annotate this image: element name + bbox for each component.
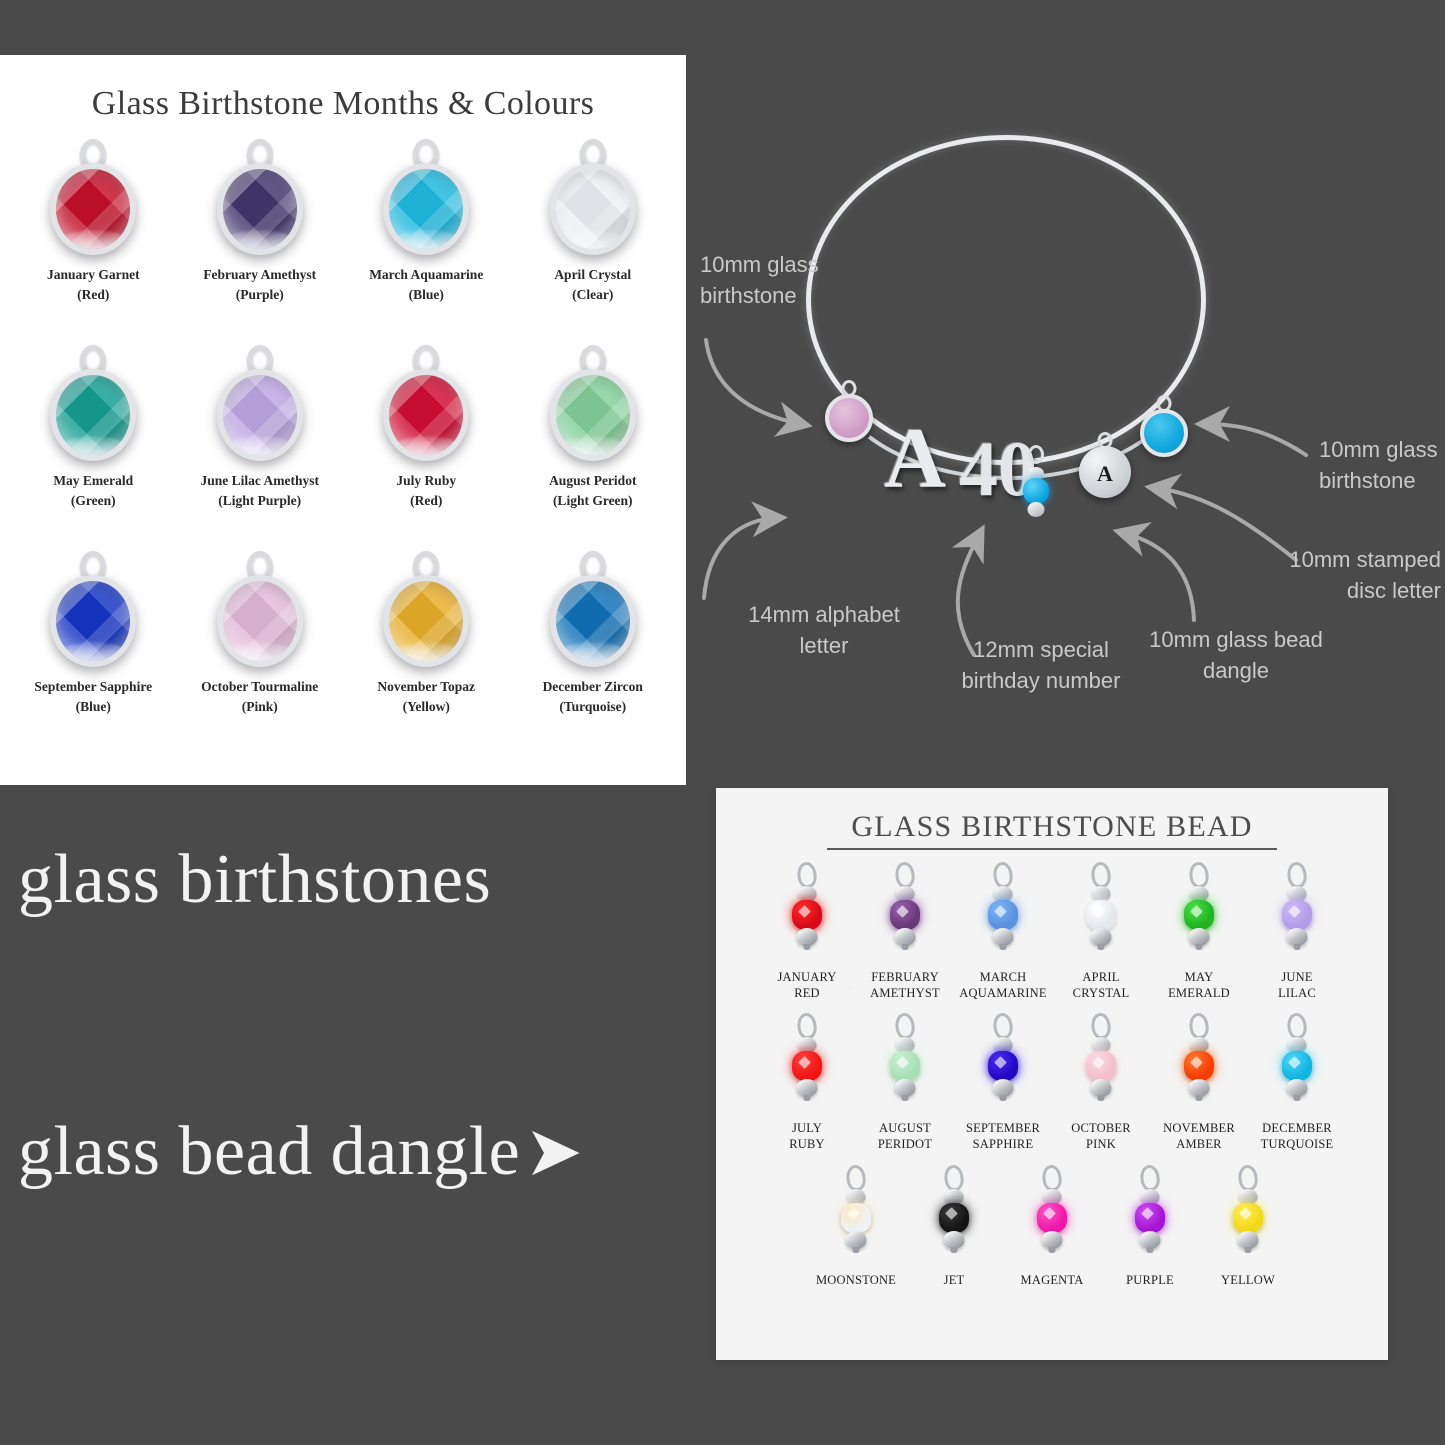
bead-dangle-art — [1230, 1165, 1266, 1271]
bead-wire-loop-icon — [1090, 1012, 1112, 1040]
bead-row: JANUARYREDFEBRUARYAMETHYSTMARCHAQUAMARIN… — [716, 862, 1388, 1001]
bead-label: PURPLE — [1126, 1273, 1174, 1289]
bead-pin-tip — [1196, 944, 1203, 950]
bead-pin-tip — [1294, 1095, 1301, 1101]
stone-cell: November Topaz(Yellow) — [343, 549, 510, 749]
bead-label: OCTOBERPINK — [1071, 1121, 1131, 1152]
caption-glass-birthstones: glass birthstones — [18, 840, 491, 920]
bead-dangle-art — [1132, 1165, 1168, 1271]
stone-name: May Emerald — [53, 471, 133, 491]
stone-colour: (Light Green) — [549, 491, 636, 511]
bead-label: JULYRUBY — [789, 1121, 825, 1152]
charm-glass-birthstone-pink — [823, 380, 875, 444]
stone-cell: September Sapphire(Blue) — [10, 549, 177, 749]
stone-gem — [383, 575, 469, 667]
bead-pin-tip — [804, 1095, 811, 1101]
bead-body — [792, 900, 822, 930]
stone-name: June Lilac Amethyst — [200, 471, 319, 491]
stone-cell: February Amethyst(Purple) — [177, 137, 344, 337]
bead-label: YELLOW — [1221, 1273, 1275, 1289]
bead-label-line1: MAGENTA — [1021, 1273, 1084, 1289]
bead-cell: MOONSTONE — [811, 1165, 901, 1289]
arrow-to-pink-stone — [706, 340, 801, 424]
stone-charm-art — [210, 137, 310, 259]
annotation-10mm-stamped-disc-letter: 10mm stamped disc letter — [1256, 545, 1441, 607]
bead-label-line2: TURQUOISE — [1261, 1137, 1334, 1153]
bead-label-line2: AMBER — [1163, 1137, 1235, 1153]
stone-cell: October Tourmaline(Pink) — [177, 549, 344, 749]
bead-label: MAYEMERALD — [1168, 970, 1230, 1001]
bead-body — [1135, 1203, 1165, 1233]
stone-sheen — [394, 436, 459, 457]
bead-body — [988, 1051, 1018, 1081]
bead-pin-tip — [1245, 1247, 1252, 1253]
stone-sheen — [61, 436, 126, 457]
bead-wire-loop-icon — [796, 861, 818, 889]
bead-wire-loop-icon — [992, 861, 1014, 889]
stone-gem — [217, 575, 303, 667]
stone-name: March Aquamarine — [369, 265, 483, 285]
bead-label-line2: AQUAMARINE — [959, 986, 1046, 1002]
bead-label: DECEMBERTURQUOISE — [1261, 1121, 1334, 1152]
bead-cell: APRILCRYSTAL — [1056, 862, 1146, 1001]
stone-cell: May Emerald(Green) — [10, 343, 177, 543]
bead-label-line1: OCTOBER — [1071, 1121, 1131, 1137]
bead-dangle-art — [887, 862, 923, 968]
bead-title-divider — [827, 848, 1277, 850]
stone-grid: January Garnet(Red)February Amethyst(Pur… — [0, 123, 686, 749]
stone-name: July Ruby — [396, 471, 456, 491]
stone-name: August Peridot — [549, 471, 636, 491]
bead-cell: MARCHAQUAMARINE — [958, 862, 1048, 1001]
bead-label-line1: YELLOW — [1221, 1273, 1275, 1289]
stone-gem — [217, 163, 303, 255]
stone-sheen — [227, 436, 292, 457]
bead-wire-loop-icon — [1041, 1164, 1063, 1192]
bead-label-line1: MAY — [1168, 970, 1230, 986]
charm-glass-bead-dangle — [1021, 445, 1051, 537]
stone-cell: December Zircon(Turquoise) — [510, 549, 677, 749]
stone-label: June Lilac Amethyst(Light Purple) — [200, 471, 319, 510]
dangle-loop-icon — [1028, 445, 1044, 464]
bead-body — [1282, 1051, 1312, 1081]
bead-body — [890, 900, 920, 930]
bead-label: MAGENTA — [1021, 1273, 1084, 1289]
bead-cell: PURPLE — [1105, 1165, 1195, 1289]
stone-charm-art — [376, 343, 476, 465]
stone-gem — [50, 369, 136, 461]
bead-label: JANUARYRED — [777, 970, 836, 1001]
stone-sheen — [560, 642, 625, 663]
bead-cell: JULYRUBY — [762, 1013, 852, 1152]
bead-wire-loop-icon — [894, 1012, 916, 1040]
stone-gem — [50, 163, 136, 255]
stone-label: November Topaz(Yellow) — [377, 677, 475, 716]
stone-charm-art — [210, 549, 310, 671]
bead-dangle-art — [789, 862, 825, 968]
stone-charm-art — [43, 549, 143, 671]
stone-sheen — [394, 230, 459, 251]
bead-dangle-art — [789, 1013, 825, 1119]
stone-sheen — [61, 230, 126, 251]
bead-pin-tip — [951, 1247, 958, 1253]
stone-gem — [217, 369, 303, 461]
bead-row: MOONSTONEJETMAGENTAPURPLEYELLOW — [716, 1165, 1388, 1289]
bead-label: SEPTEMBERSAPPHIRE — [966, 1121, 1040, 1152]
bead-label-line1: APRIL — [1073, 970, 1130, 986]
stone-cell: July Ruby(Red) — [343, 343, 510, 543]
stone-name: April Crystal — [554, 265, 631, 285]
annotation-12mm-special-birthday-number: 12mm special birthday number — [931, 635, 1151, 697]
stone-colour: (Yellow) — [377, 697, 475, 717]
bead-wire-loop-icon — [1237, 1164, 1259, 1192]
stone-gem — [383, 369, 469, 461]
stone-label: October Tourmaline(Pink) — [201, 677, 318, 716]
bead-cell: JANUARYRED — [762, 862, 852, 1001]
bead-label-line1: JANUARY — [777, 970, 836, 986]
bead-rows-container: JANUARYREDFEBRUARYAMETHYSTMARCHAQUAMARIN… — [716, 862, 1388, 1288]
glass-birthstone-bead-panel: GLASS BIRTHSTONE BEAD JANUARYREDFEBRUARY… — [716, 788, 1388, 1360]
bead-wire-loop-icon — [1090, 861, 1112, 889]
bead-wire-loop-icon — [943, 1164, 965, 1192]
bead-label-line2: AMETHYST — [870, 986, 940, 1002]
bead-dangle-art — [1279, 862, 1315, 968]
bead-pin-tip — [804, 944, 811, 950]
bead-pin-tip — [853, 1247, 860, 1253]
stone-charm-art — [43, 137, 143, 259]
stone-label: August Peridot(Light Green) — [549, 471, 636, 510]
bead-dangle-art — [1083, 862, 1119, 968]
bead-wire-loop-icon — [845, 1164, 867, 1192]
bead-dangle-art — [936, 1165, 972, 1271]
charm-stamped-disc-letter: A — [1076, 432, 1134, 504]
bead-cell: JET — [909, 1165, 999, 1289]
bead-label-line2: EMERALD — [1168, 986, 1230, 1002]
bead-label-line1: MARCH — [959, 970, 1046, 986]
stone-charm-art — [210, 343, 310, 465]
stone-sheen — [227, 230, 292, 251]
stone-cell: January Garnet(Red) — [10, 137, 177, 337]
stone-colour: (Red) — [396, 491, 456, 511]
bead-label-line1: JULY — [789, 1121, 825, 1137]
stone-colour: (Clear) — [554, 285, 631, 305]
bead-cell: MAYEMERALD — [1154, 862, 1244, 1001]
bead-label-line2: PERIDOT — [878, 1137, 932, 1153]
bead-dangle-art — [1181, 862, 1217, 968]
bead-label-line2: RUBY — [789, 1137, 825, 1153]
stone-colour: (Blue) — [34, 697, 152, 717]
bead-pin-tip — [1147, 1247, 1154, 1253]
stamped-disc-letter-text: A — [1097, 461, 1113, 487]
annotation-10mm-glass-birthstone-top: 10mm glass birthstone — [700, 250, 880, 312]
stone-name: September Sapphire — [34, 677, 152, 697]
stamped-disc: A — [1079, 446, 1131, 498]
caption-glass-bead-dangle: glass bead dangle ➤ — [18, 1110, 583, 1193]
glass-birthstone-chart-panel: Glass Birthstone Months & Colours Januar… — [0, 55, 686, 785]
stone-sheen — [394, 642, 459, 663]
stone-label: December Zircon(Turquoise) — [543, 677, 643, 716]
bead-pin-tip — [1049, 1247, 1056, 1253]
stone-sheen — [560, 436, 625, 457]
stone-colour: (Red) — [47, 285, 140, 305]
bead-body — [988, 900, 1018, 930]
bead-wire-loop-icon — [992, 1012, 1014, 1040]
stone-charm-art — [376, 549, 476, 671]
bead-pin-tip — [1294, 944, 1301, 950]
bead-body — [1184, 1051, 1214, 1081]
bead-body — [1086, 900, 1116, 930]
bead-body — [939, 1203, 969, 1233]
arrow-to-alphabet-letter — [704, 518, 776, 598]
stone-colour: (Green) — [53, 491, 133, 511]
bead-wire-loop-icon — [796, 1012, 818, 1040]
bead-wire-loop-icon — [1286, 1012, 1308, 1040]
stone-name: October Tourmaline — [201, 677, 318, 697]
annotation-10mm-glass-bead-dangle: 10mm glass bead dangle — [1136, 625, 1336, 687]
bead-body — [792, 1051, 822, 1081]
bead-cell: YELLOW — [1203, 1165, 1293, 1289]
bead-dangle-art — [887, 1013, 923, 1119]
bead-wire-loop-icon — [1188, 1012, 1210, 1040]
bead-pin-tip — [902, 1095, 909, 1101]
bracelet-diagram: A 40 A 10mm glass birthston — [686, 0, 1445, 785]
stone-label: February Amethyst(Purple) — [203, 265, 316, 304]
stone-colour: (Turquoise) — [543, 697, 643, 717]
stone-colour: (Blue) — [369, 285, 483, 305]
bead-label: APRILCRYSTAL — [1073, 970, 1130, 1001]
bead-dangle-art — [1083, 1013, 1119, 1119]
bead-pin-tip — [1098, 944, 1105, 950]
bead-label: AUGUSTPERIDOT — [878, 1121, 932, 1152]
bead-cell: MAGENTA — [1007, 1165, 1097, 1289]
annotation-10mm-glass-birthstone-right: 10mm glass birthstone — [1319, 435, 1445, 497]
bead-body — [890, 1051, 920, 1081]
bead-cell: NOVEMBERAMBER — [1154, 1013, 1244, 1152]
bead-label-line1: PURPLE — [1126, 1273, 1174, 1289]
charm-alphabet-letter: A — [884, 415, 946, 501]
charm-stone-disc — [825, 394, 873, 442]
bead-dangle-art — [985, 1013, 1021, 1119]
dangle-bead — [1023, 478, 1049, 504]
stone-charm-art — [543, 137, 643, 259]
stone-gem — [50, 575, 136, 667]
bead-pin-tip — [902, 944, 909, 950]
bead-label-line2: CRYSTAL — [1073, 986, 1130, 1002]
stone-name: January Garnet — [47, 265, 140, 285]
stone-name: February Amethyst — [203, 265, 316, 285]
bead-label-line1: NOVEMBER — [1163, 1121, 1235, 1137]
bead-body — [1233, 1203, 1263, 1233]
charm-stone-disc — [1140, 409, 1188, 457]
stone-label: April Crystal(Clear) — [554, 265, 631, 304]
bead-body — [1282, 900, 1312, 930]
bead-pin-tip — [1098, 1095, 1105, 1101]
bead-dangle-art — [1181, 1013, 1217, 1119]
bead-dangle-art — [1034, 1165, 1070, 1271]
bead-label-line1: DECEMBER — [1261, 1121, 1334, 1137]
right-arrow-icon: ➤ — [524, 1110, 583, 1193]
bead-label-line2: RED — [777, 986, 836, 1002]
bead-dangle-art — [1279, 1013, 1315, 1119]
bead-label: NOVEMBERAMBER — [1163, 1121, 1235, 1152]
stone-colour: (Pink) — [201, 697, 318, 717]
bead-label-line1: SEPTEMBER — [966, 1121, 1040, 1137]
bead-label-line1: AUGUST — [878, 1121, 932, 1137]
caption-bead-dangle-text: glass bead dangle — [18, 1112, 520, 1192]
bead-dangle-art — [838, 1165, 874, 1271]
stone-charm-art — [376, 137, 476, 259]
bead-wire-loop-icon — [1188, 861, 1210, 889]
bead-label-line1: JUNE — [1278, 970, 1316, 986]
stone-cell: April Crystal(Clear) — [510, 137, 677, 337]
stone-charm-art — [543, 549, 643, 671]
stone-sheen — [61, 642, 126, 663]
stone-label: May Emerald(Green) — [53, 471, 133, 510]
bead-cell: FEBRUARYAMETHYST — [860, 862, 950, 1001]
bead-row: JULYRUBYAUGUSTPERIDOTSEPTEMBERSAPPHIREOC… — [716, 1013, 1388, 1152]
bead-cell: SEPTEMBERSAPPHIRE — [958, 1013, 1048, 1152]
bead-body — [1184, 900, 1214, 930]
dangle-cap-bottom — [1028, 502, 1045, 517]
bead-body — [1086, 1051, 1116, 1081]
stone-colour: (Light Purple) — [200, 491, 319, 511]
bead-label-line1: FEBRUARY — [870, 970, 940, 986]
bead-label-line2: PINK — [1071, 1137, 1131, 1153]
stone-name: December Zircon — [543, 677, 643, 697]
arrow-to-blue-stone — [1206, 424, 1306, 455]
stone-gem — [550, 575, 636, 667]
bead-body — [841, 1203, 871, 1233]
bead-label: FEBRUARYAMETHYST — [870, 970, 940, 1001]
stone-label: September Sapphire(Blue) — [34, 677, 152, 716]
bead-label: MOONSTONE — [816, 1273, 896, 1289]
bead-label-line2: SAPPHIRE — [966, 1137, 1040, 1153]
bead-cell: DECEMBERTURQUOISE — [1252, 1013, 1342, 1152]
stone-cell: June Lilac Amethyst(Light Purple) — [177, 343, 344, 543]
bead-pin-tip — [1000, 1095, 1007, 1101]
bead-pin-tip — [1196, 1095, 1203, 1101]
stone-cell: August Peridot(Light Green) — [510, 343, 677, 543]
stone-sheen — [560, 230, 625, 251]
annotation-14mm-alphabet-letter: 14mm alphabet letter — [724, 600, 924, 662]
stone-charm-art — [543, 343, 643, 465]
bead-label: JUNELILAC — [1278, 970, 1316, 1001]
stone-label: March Aquamarine(Blue) — [369, 265, 483, 304]
stone-gem — [383, 163, 469, 255]
bead-wire-loop-icon — [894, 861, 916, 889]
bead-label: JET — [944, 1273, 965, 1289]
stone-label: January Garnet(Red) — [47, 265, 140, 304]
stone-sheen — [227, 642, 292, 663]
stone-cell: March Aquamarine(Blue) — [343, 137, 510, 337]
bead-body — [1037, 1203, 1067, 1233]
bead-cell: AUGUSTPERIDOT — [860, 1013, 950, 1152]
stone-label: July Ruby(Red) — [396, 471, 456, 510]
stone-chart-title: Glass Birthstone Months & Colours — [0, 85, 686, 123]
bead-cell: OCTOBERPINK — [1056, 1013, 1146, 1152]
charm-glass-birthstone-blue — [1138, 395, 1190, 459]
arrow-to-bead-dangle — [1124, 533, 1194, 620]
stone-charm-art — [43, 343, 143, 465]
bead-label: MARCHAQUAMARINE — [959, 970, 1046, 1001]
bead-dangle-art — [985, 862, 1021, 968]
bead-label-line2: LILAC — [1278, 986, 1316, 1002]
bead-label-line1: MOONSTONE — [816, 1273, 896, 1289]
bead-label-line1: JET — [944, 1273, 965, 1289]
bead-cell: JUNELILAC — [1252, 862, 1342, 1001]
stone-name: November Topaz — [377, 677, 475, 697]
bead-chart-title: GLASS BIRTHSTONE BEAD — [716, 788, 1388, 844]
bead-wire-loop-icon — [1139, 1164, 1161, 1192]
stone-gem — [550, 163, 636, 255]
bead-pin-tip — [1000, 944, 1007, 950]
bead-wire-loop-icon — [1286, 861, 1308, 889]
stone-colour: (Purple) — [203, 285, 316, 305]
stone-gem — [550, 369, 636, 461]
